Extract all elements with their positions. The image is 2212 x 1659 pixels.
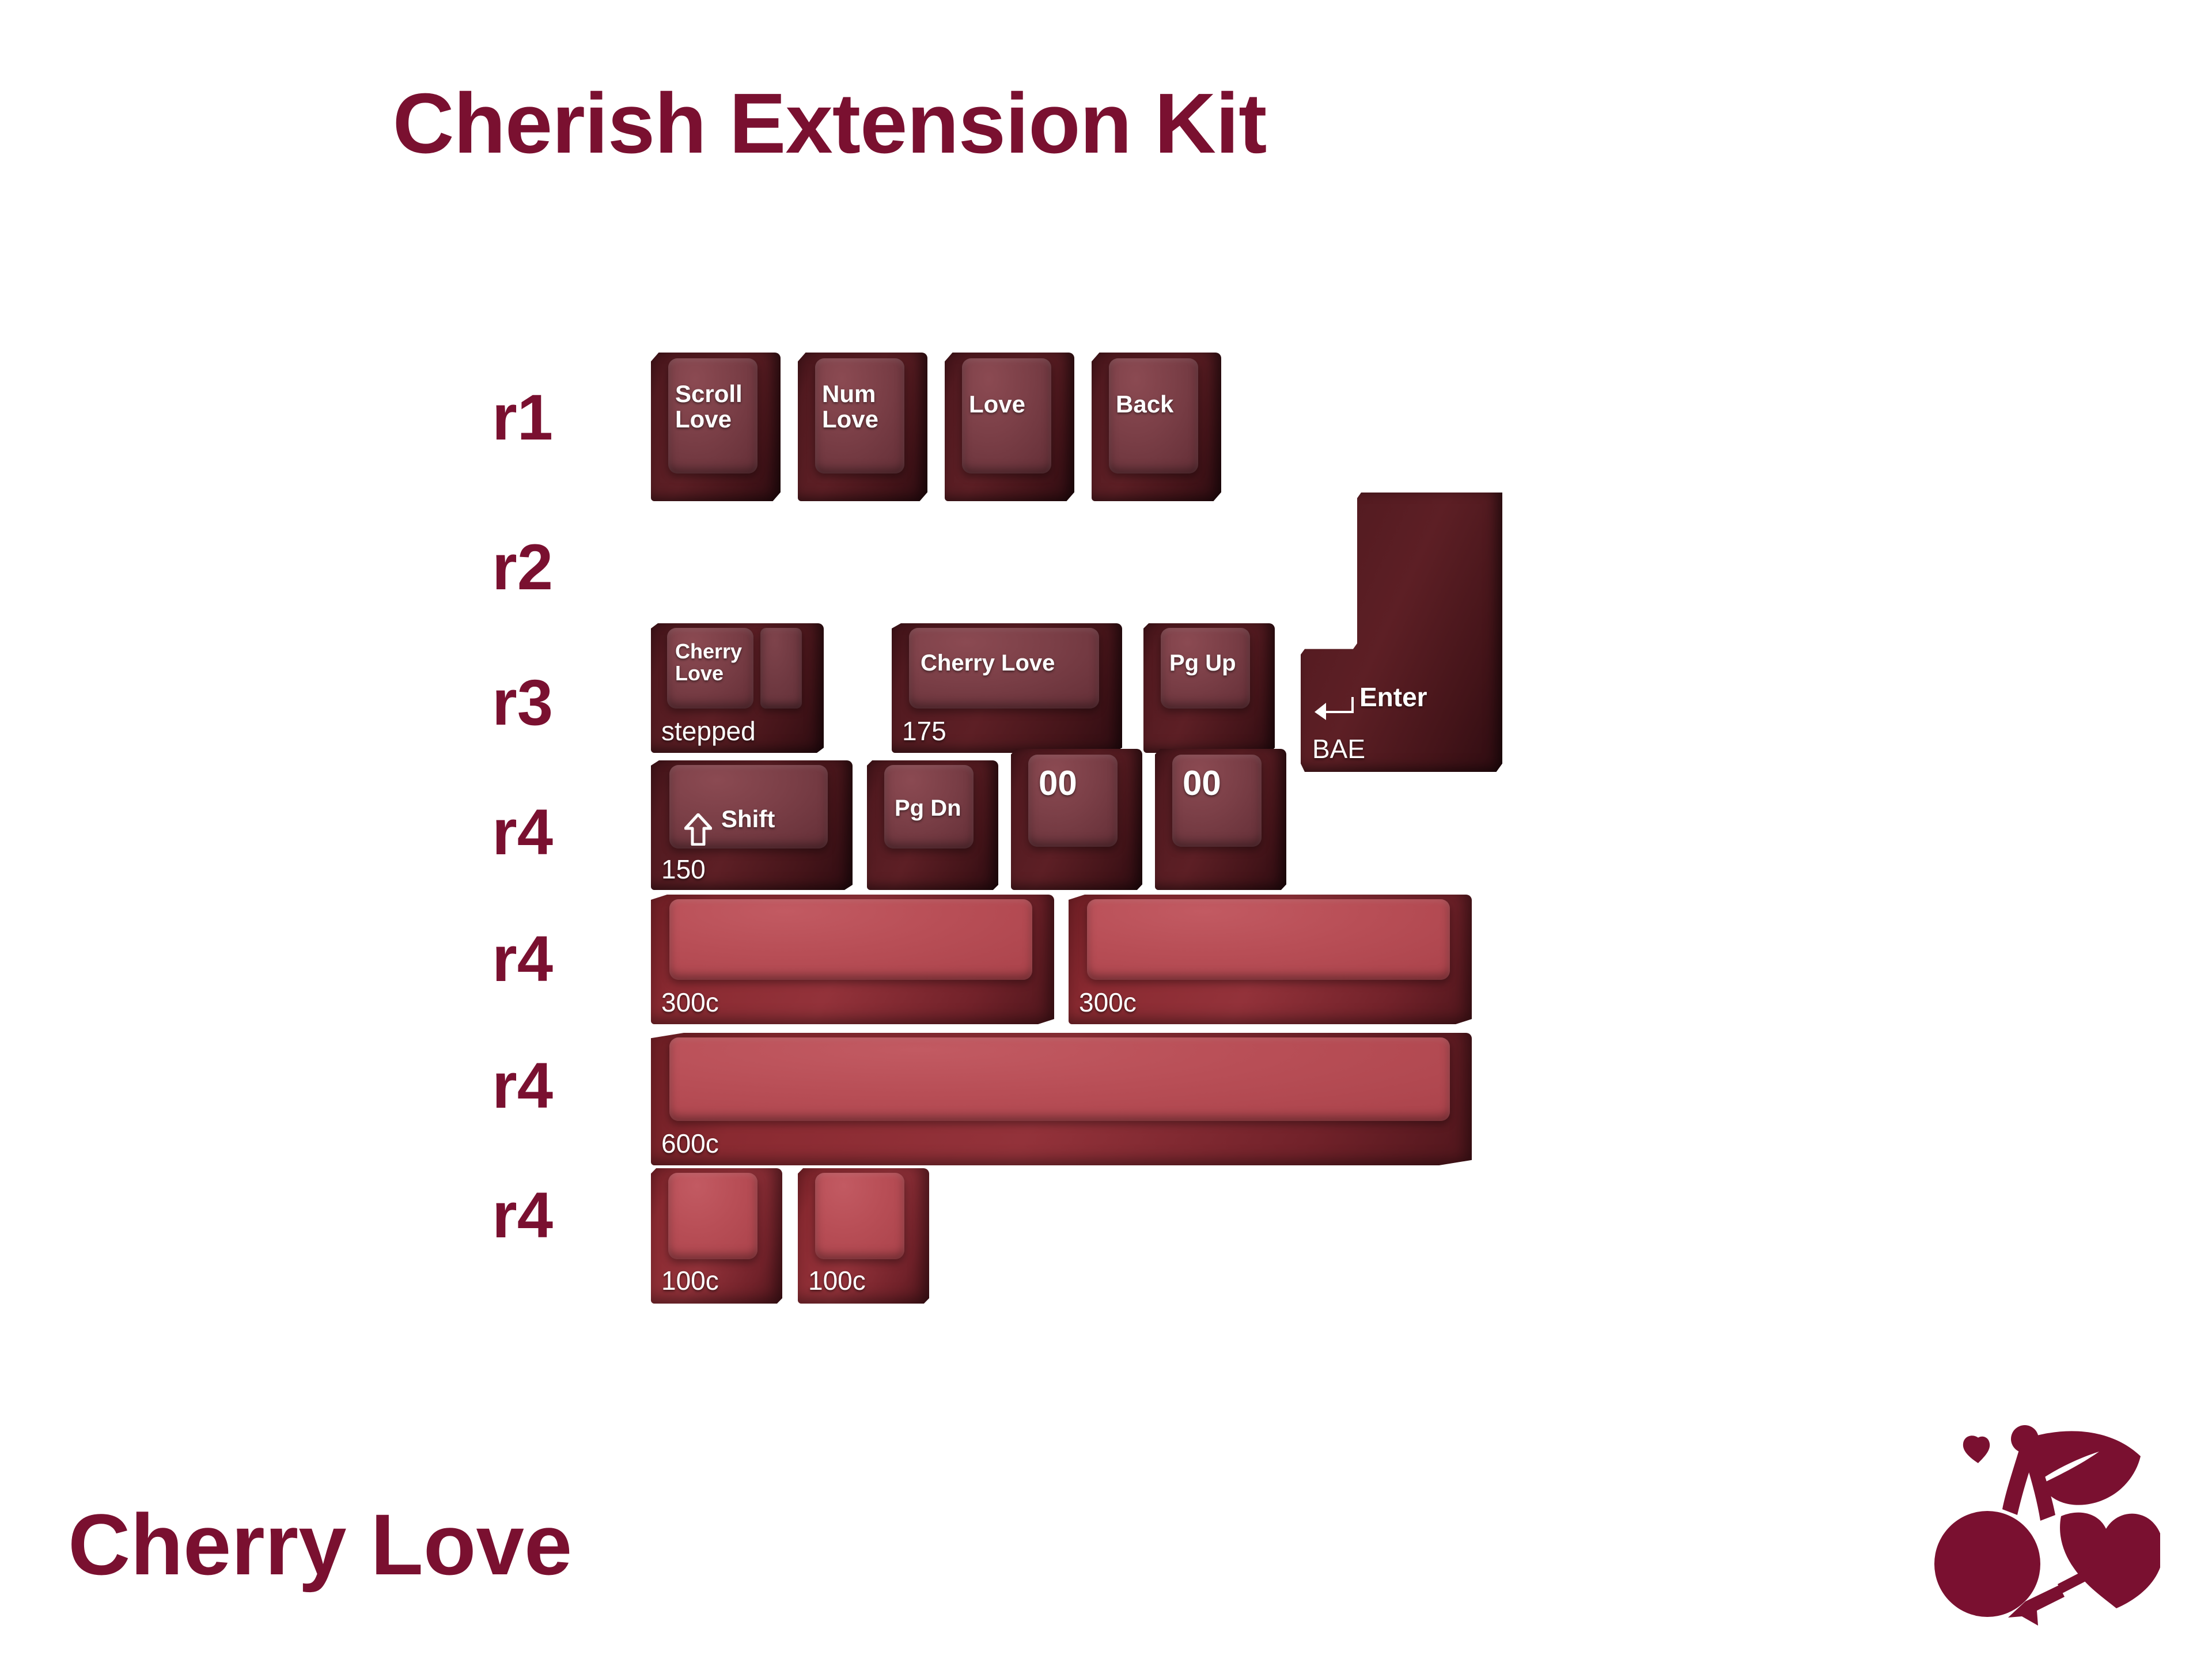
keycap-step-surface [760, 628, 802, 709]
key-pg-dn[interactable]: Pg Dn [867, 760, 998, 890]
page-title: Cherish Extension Kit [0, 75, 1659, 173]
key-double-zero-b[interactable]: 00 [1155, 749, 1286, 890]
key-size-label: 100c [808, 1265, 866, 1296]
keycap-top-surface [1172, 755, 1262, 847]
key-love[interactable]: Love [945, 353, 1074, 501]
key-enter[interactable]: Enter BAE [1301, 493, 1502, 772]
keycap-top-surface [815, 1173, 904, 1259]
key-double-zero-a[interactable]: 00 [1011, 749, 1142, 890]
keycap-top-surface [1161, 628, 1250, 709]
key-blank-100c-b[interactable]: 100c [798, 1168, 929, 1304]
key-pg-up[interactable]: Pg Up [1143, 623, 1275, 753]
key-back[interactable]: Back [1092, 353, 1221, 501]
row-label-r1: r1 [438, 380, 553, 454]
key-size-label: 150 [661, 854, 706, 885]
keycap-top-surface [1087, 899, 1450, 980]
key-size-label: 175 [902, 715, 946, 747]
keycap-top-surface [667, 628, 753, 709]
brand-title: Cherry Love [68, 1495, 572, 1594]
keycap-skirt [1301, 493, 1502, 772]
key-cherry-love-175[interactable]: Cherry Love 175 [892, 623, 1122, 753]
key-size-label: 300c [661, 987, 719, 1018]
keycap-top-surface [1109, 358, 1198, 474]
keycap-top-surface [962, 358, 1051, 474]
keycap-top-surface [668, 358, 757, 474]
row-label-r3: r3 [438, 665, 553, 740]
key-blank-100c-a[interactable]: 100c [651, 1168, 782, 1304]
key-size-label: BAE [1312, 733, 1365, 764]
keycap-top-surface [815, 358, 904, 474]
key-size-label: stepped [661, 715, 756, 747]
keycap-top-surface [668, 1173, 757, 1259]
keycap-top-surface [909, 628, 1099, 709]
key-num-love[interactable]: Num Love [798, 353, 927, 501]
key-size-label: 300c [1079, 987, 1137, 1018]
key-size-label: 600c [661, 1128, 719, 1159]
row-label-r4-c: r4 [438, 1048, 553, 1123]
row-label-r4-b: r4 [438, 922, 553, 996]
key-space-300c-b[interactable]: 300c [1069, 895, 1472, 1024]
keycap-top-surface [669, 1037, 1450, 1121]
keycap-top-surface [1028, 755, 1118, 847]
cherry-love-logo [1907, 1411, 2160, 1642]
keycap-top-surface [669, 765, 828, 849]
keycap-top-surface [884, 765, 974, 849]
key-scroll-love[interactable]: Scroll Love [651, 353, 781, 501]
row-label-r4-d: r4 [438, 1178, 553, 1252]
key-space-300c-a[interactable]: 300c [651, 895, 1054, 1024]
key-size-label: 100c [661, 1265, 719, 1296]
keycap-top-surface [669, 899, 1032, 980]
row-label-r2: r2 [438, 530, 553, 604]
key-caps-lock-stepped[interactable]: Cherry Love stepped [651, 623, 824, 753]
row-label-r4-a: r4 [438, 795, 553, 869]
key-shift-150[interactable]: Shift 150 [651, 760, 853, 890]
key-space-600c[interactable]: 600c [651, 1033, 1472, 1165]
